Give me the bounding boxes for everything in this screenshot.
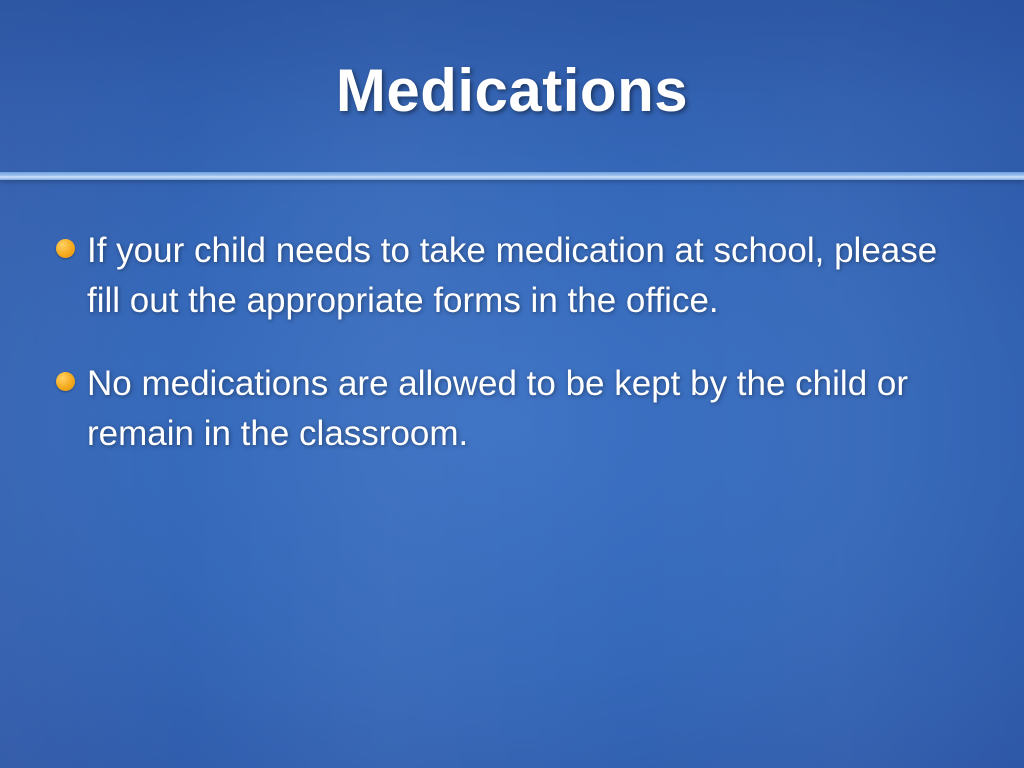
round-bullet-icon	[56, 372, 75, 391]
slide-body: If your child needs to take medication a…	[56, 226, 976, 493]
bullet-text: No medications are allowed to be kept by…	[87, 359, 962, 458]
slide: Medications If your child needs to take …	[0, 0, 1024, 768]
bullet-text: If your child needs to take medication a…	[87, 226, 967, 325]
round-bullet-icon	[56, 239, 75, 258]
page-title: Medications	[0, 56, 1024, 125]
list-item: No medications are allowed to be kept by…	[56, 359, 976, 458]
list-item: If your child needs to take medication a…	[56, 226, 976, 325]
title-divider	[0, 172, 1024, 180]
